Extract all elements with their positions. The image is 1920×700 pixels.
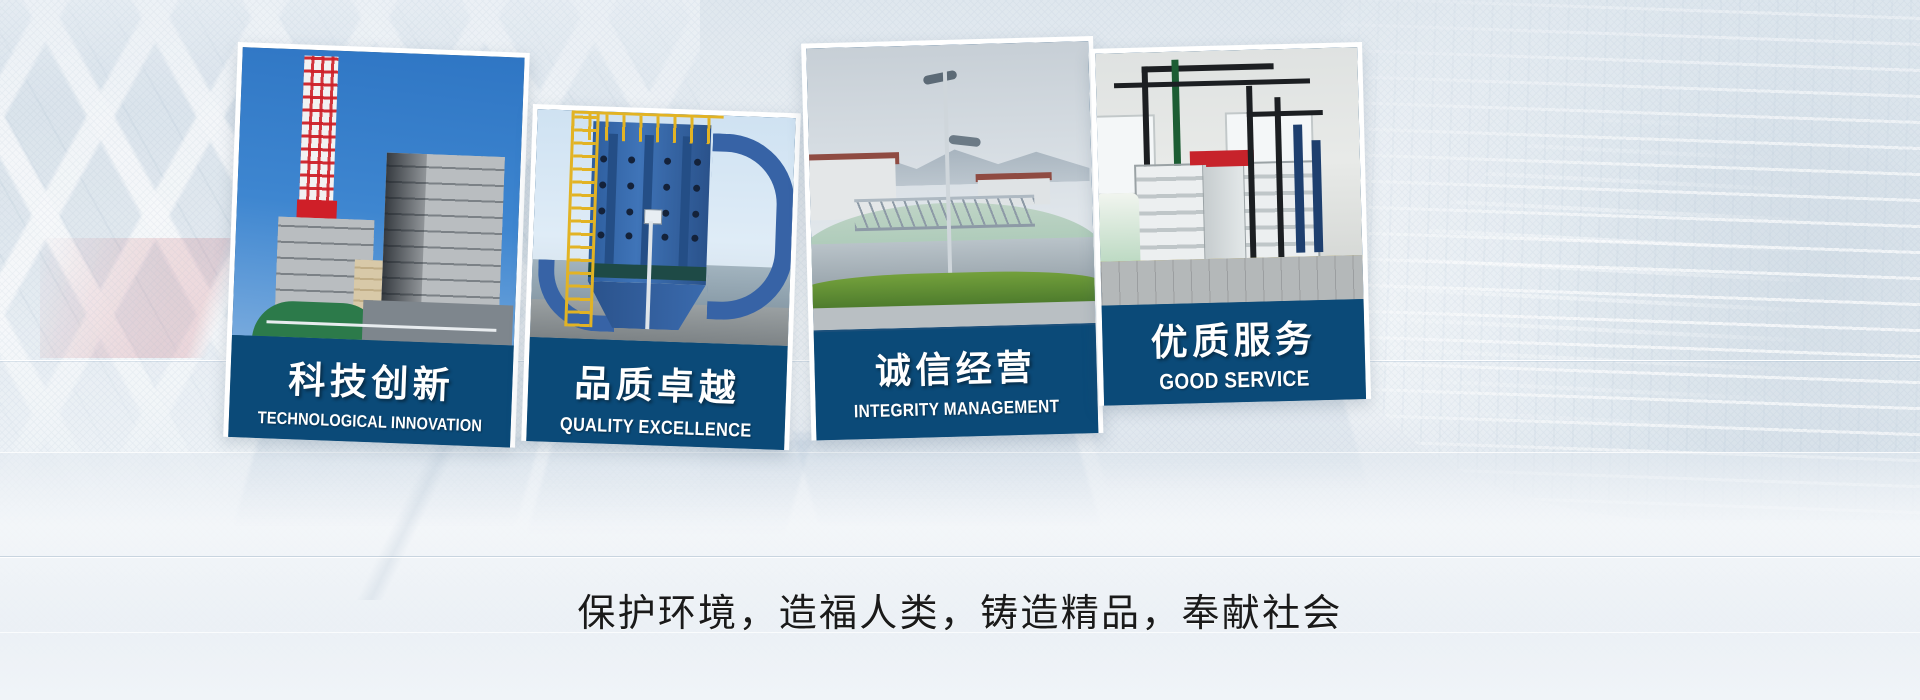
panel-caption-bar: 诚信经营 INTEGRITY MANAGEMENT — [814, 325, 1099, 440]
panel-title-cn: 优质服务 — [1102, 307, 1365, 368]
panel-reflection — [526, 440, 812, 536]
panel-reflection — [233, 436, 541, 528]
panel-caption-bar: 科技创新 TECHNOLOGICAL INNOVATION — [228, 335, 514, 448]
feature-panel-integrity-management[interactable]: 诚信经营 INTEGRITY MANAGEMENT — [801, 36, 1103, 441]
panel-title-cn: 诚信经营 — [814, 337, 1097, 396]
panel-reflection — [1081, 398, 1369, 490]
panel-reflection — [792, 432, 1102, 528]
panel-title-en: GOOD SERVICE — [1122, 364, 1348, 396]
panel-title-cn: 科技创新 — [230, 347, 514, 412]
panel-title-en: INTEGRITY MANAGEMENT — [835, 396, 1078, 423]
panel-caption-bar: 优质服务 GOOD SERVICE — [1102, 299, 1366, 406]
hero-banner: 科技创新 TECHNOLOGICAL INNOVATION — [0, 0, 1920, 700]
background-floor-line-middle — [0, 556, 1920, 557]
feature-panel-good-service[interactable]: 优质服务 GOOD SERVICE — [1090, 42, 1371, 406]
panel-photo-wastewater-plant — [806, 41, 1095, 330]
panel-title-en: QUALITY EXCELLENCE — [544, 414, 767, 444]
panel-caption-bar: 品质卓越 QUALITY EXCELLENCE — [526, 337, 787, 450]
panel-photo-dust-collector — [530, 109, 796, 346]
banner-tagline: 保护环境，造福人类，铸造精品，奉献社会 — [0, 582, 1920, 637]
panel-photo-power-plant — [232, 47, 525, 345]
feature-panel-technological-innovation[interactable]: 科技创新 TECHNOLOGICAL INNOVATION — [223, 42, 530, 448]
panel-photo-ro-system — [1095, 47, 1363, 306]
panel-title-en: TECHNOLOGICAL INNOVATION — [248, 408, 491, 437]
feature-panel-quality-excellence[interactable]: 品质卓越 QUALITY EXCELLENCE — [521, 104, 801, 450]
panel-title-cn: 品质卓越 — [527, 351, 787, 414]
